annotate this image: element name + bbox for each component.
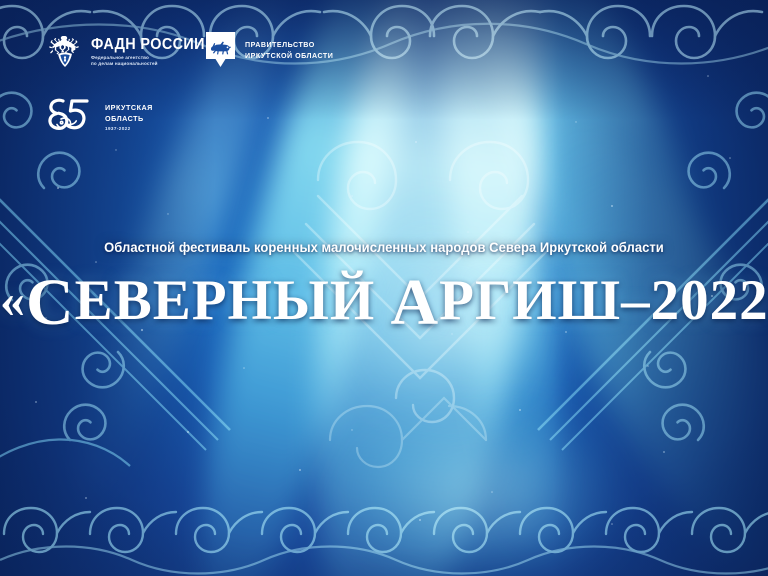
anniversary-years: 1937-2022 [105,126,153,131]
logo-bar: ФАДН РОССИИ Федеральное агентство по дел… [0,0,768,150]
title-word2-initial: А [390,266,439,339]
gov-line2: ИРКУТСКОЙ ОБЛАСТИ [245,51,333,62]
festival-subtitle: Областной фестиваль коренных малочисленн… [12,240,757,255]
title-word1-initial: С [26,266,75,339]
anniversary-line2: ОБЛАСТЬ [105,114,153,125]
title-word1-rest: ЕВЕРНЫЙ [75,269,376,332]
gov-line1: ПРАВИТЕЛЬСТВО [245,40,333,51]
fadn-title: ФАДН РОССИИ [91,37,205,53]
double-headed-eagle-icon [48,31,82,73]
title-open-quote: « [0,272,26,328]
anniversary-line1: ИРКУТСКАЯ [105,103,153,114]
fadn-subtitle-line2: по делам национальностей [91,61,213,67]
festival-poster: ФАДН РОССИИ Федеральное агентство по дел… [0,0,768,576]
logo-irkutsk-government: ПРАВИТЕЛЬСТВО ИРКУТСКОЙ ОБЛАСТИ [205,31,333,71]
logo-85-anniversary: ИРКУТСКАЯ ОБЛАСТЬ 1937-2022 [44,95,153,139]
title-word2-rest: РГИШ–2022 [439,269,768,332]
babr-shield-icon [205,31,236,71]
festival-title: «СЕВЕРНЫЙ АРГИШ–2022» [0,265,768,341]
85-anniversary-icon [44,95,96,139]
logo-fadn-russia: ФАДН РОССИИ Федеральное агентство по дел… [48,31,213,73]
